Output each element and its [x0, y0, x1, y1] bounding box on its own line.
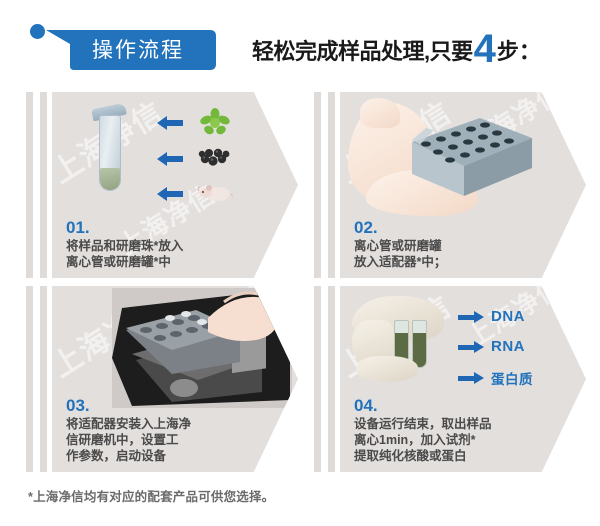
panel-body: 上海净信 上海净信 DNA RNA 蛋白质 04: [340, 286, 586, 472]
hand-holding-adapter-photo: [346, 96, 546, 216]
panel-accent-bar: [40, 286, 47, 472]
step-panel-02[interactable]: 上海净信 上海净信: [314, 92, 586, 278]
output-label: RNA: [491, 338, 525, 355]
output-label: DNA: [491, 308, 525, 325]
output-row-protein: 蛋白质: [458, 368, 533, 388]
machine-interior-icon: [112, 288, 292, 408]
panel-accent-bar: [314, 286, 321, 472]
step-panel-04[interactable]: 上海净信 上海净信 DNA RNA 蛋白质 04: [314, 286, 586, 472]
plant-leaf-icon: [200, 108, 230, 136]
output-row-dna: DNA: [458, 308, 525, 325]
adapter-block-icon: [346, 96, 546, 216]
arrow-left-icon: [157, 152, 183, 165]
output-row-rna: RNA: [458, 338, 525, 355]
step-number: 01.: [66, 218, 183, 237]
step-panel-01[interactable]: 上海净信 上海净信: [26, 92, 298, 278]
sample-row-plant: [157, 116, 183, 129]
centrifuge-tube-icon: [90, 106, 136, 198]
step-number: 04.: [354, 396, 492, 415]
panel-body: 上海净信 上海净信: [52, 92, 298, 278]
step-description: 设备运行结束，取出样品 离心1min，加入试剂* 提取纯化核酸或蛋白: [354, 416, 492, 464]
grinding-beads-icon: [198, 146, 232, 166]
arrow-right-icon: [458, 372, 484, 384]
headline: 轻松完成样品处理,只要 4 步：: [252, 26, 541, 66]
panel-caption: 01. 将样品和研磨珠*放入 离心管或研磨罐*中: [66, 218, 183, 270]
arrow-right-icon: [458, 311, 484, 323]
sample-row-mouse: [157, 187, 183, 200]
panel-accent-bar: [40, 92, 47, 278]
mouse-tissue-icon: [197, 182, 233, 202]
process-banner: 操作流程: [46, 28, 216, 70]
panel-caption: 02. 离心管或研磨罐 放入适配器*中；: [354, 218, 446, 270]
step-description: 离心管或研磨罐 放入适配器*中；: [354, 238, 446, 270]
headline-main-text: 轻松完成样品处理,只要: [252, 34, 473, 66]
footer-note: *上海净信均有对应的配套产品可供您选择。: [28, 486, 274, 505]
headline-step-count: 4: [474, 29, 496, 69]
panel-caption: 03. 将适配器安装入上海净 信研磨机中，设置工 作参数，启动设备: [66, 396, 191, 464]
panel-accent-bar: [26, 92, 33, 278]
step-description: 将适配器安装入上海净 信研磨机中，设置工 作参数，启动设备: [66, 416, 191, 464]
arrow-right-icon: [458, 341, 484, 353]
panel-accent-bar: [314, 92, 321, 278]
step-number: 02.: [354, 218, 446, 237]
panel-body: 上海净信 上海净信: [340, 92, 586, 278]
step-panel-03[interactable]: 上海净信 上海净信: [26, 286, 298, 472]
steps-container: 上海净信 上海净信: [0, 88, 600, 478]
step-number: 03.: [66, 396, 191, 415]
sample-row-beads: [157, 152, 183, 165]
arrow-left-icon: [157, 116, 183, 129]
gloved-hand-with-vials-photo: [350, 294, 460, 392]
panel-body: 上海净信 上海净信: [52, 286, 298, 472]
panel-accent-bar: [328, 286, 335, 472]
step-description: 将样品和研磨珠*放入 离心管或研磨罐*中: [66, 238, 183, 270]
headline-tail-text: 步：: [497, 34, 541, 66]
grinder-machine-photo: [112, 288, 292, 408]
blue-dot-icon: [30, 24, 45, 39]
page-header: 操作流程 轻松完成样品处理,只要 4 步：: [0, 0, 600, 88]
panel-accent-bar: [26, 286, 33, 472]
panel-caption: 04. 设备运行结束，取出样品 离心1min，加入试剂* 提取纯化核酸或蛋白: [354, 396, 492, 464]
sample-vial-icon: [412, 320, 427, 368]
banner-label: 操作流程: [46, 28, 216, 70]
arrow-left-icon: [157, 187, 183, 200]
output-label: 蛋白质: [491, 368, 533, 388]
panel-accent-bar: [328, 92, 335, 278]
